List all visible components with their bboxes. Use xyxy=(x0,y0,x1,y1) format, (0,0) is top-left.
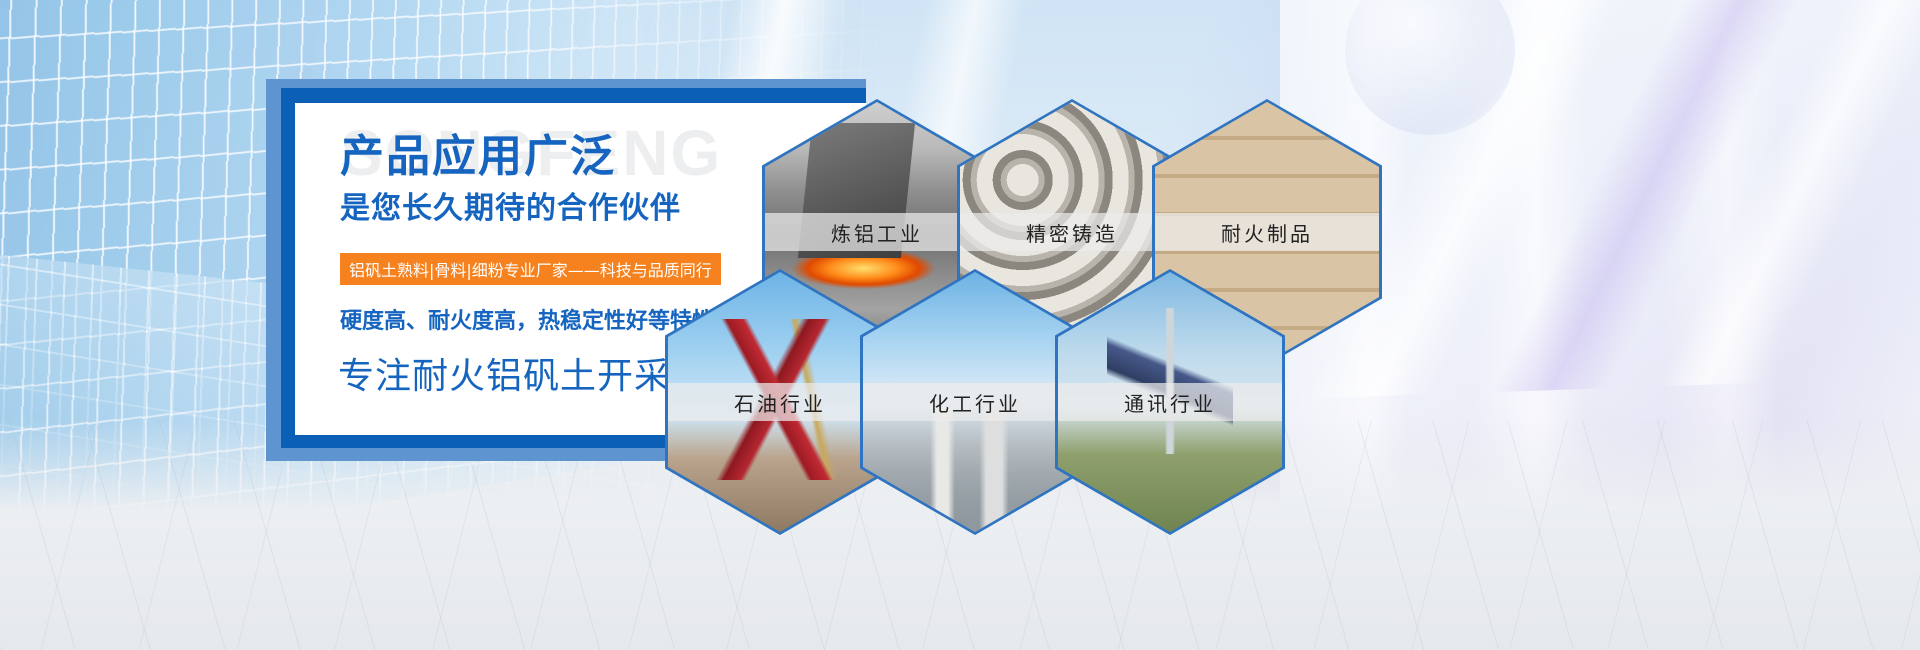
hexagon-gallery: 炼铝工业 精密铸造 耐火制品 石油行业 化工行业 xyxy=(0,0,1920,650)
promo-banner: SONGFENG 产品应用广泛 是您长久期待的合作伙伴 铝矾土熟料|骨料|细粉专… xyxy=(0,0,1920,650)
hex-caption: 耐火制品 xyxy=(1155,213,1379,251)
hex-caption: 化工行业 xyxy=(863,383,1087,421)
hex-caption: 精密铸造 xyxy=(960,213,1184,251)
hex-caption: 石油行业 xyxy=(668,383,892,421)
hex-caption: 通讯行业 xyxy=(1058,383,1282,421)
hex-caption: 炼铝工业 xyxy=(765,213,989,251)
